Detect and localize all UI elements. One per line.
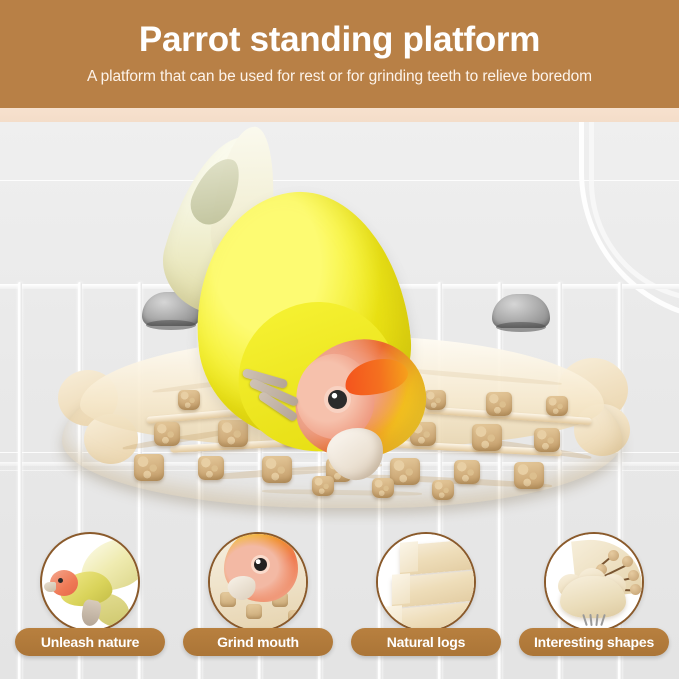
pin-prong <box>582 614 588 626</box>
pin-prong <box>595 614 598 626</box>
cork-peg <box>534 428 560 452</box>
feature-badge-interesting-shapes[interactable]: Interesting shapes <box>510 532 678 660</box>
cork-peg <box>546 396 568 416</box>
header-accent-strip <box>0 108 679 122</box>
cork-peg <box>608 550 619 561</box>
parrot <box>168 132 468 492</box>
cork-peg <box>246 604 262 619</box>
badge-pill[interactable]: Grind mouth <box>183 628 333 656</box>
pin-bracket <box>584 614 604 626</box>
header-banner: Parrot standing platform A platform that… <box>0 0 679 108</box>
cork-peg <box>514 462 544 489</box>
eye-shape <box>254 558 267 571</box>
badge-label: Unleash nature <box>41 634 139 650</box>
flying-lovebird-icon <box>40 532 140 632</box>
pin-prong <box>589 614 592 626</box>
badge-pill[interactable]: Natural logs <box>351 628 501 656</box>
page-title: Parrot standing platform <box>139 22 540 59</box>
badge-label: Natural logs <box>387 634 466 650</box>
badge-pill[interactable]: Interesting shapes <box>519 628 669 656</box>
cork-peg <box>628 570 639 581</box>
product-infographic: Parrot standing platform A platform that… <box>0 0 679 679</box>
parrot-eye <box>328 390 347 409</box>
eye-shape <box>58 578 63 583</box>
cork-peg <box>630 584 641 595</box>
badge-label: Interesting shapes <box>534 634 654 650</box>
beak-shape <box>44 582 56 592</box>
cork-peg <box>288 610 304 625</box>
feature-badge-natural-logs[interactable]: Natural logs <box>342 532 510 660</box>
cloud-shaped-board-icon <box>544 532 644 632</box>
cage-frame-arc <box>589 122 679 302</box>
feature-badge-unleash-nature[interactable]: Unleash nature <box>6 532 174 660</box>
cork-peg <box>486 392 512 416</box>
cork-peg <box>134 454 164 481</box>
log-end-face <box>400 541 418 573</box>
page-subtitle: A platform that can be used for rest or … <box>87 68 592 86</box>
leg-shape <box>80 599 102 628</box>
badge-label: Grind mouth <box>217 634 299 650</box>
parrot-grinding-beak-icon <box>208 532 308 632</box>
stacked-wooden-logs-icon <box>376 532 476 632</box>
cork-peg <box>622 556 633 567</box>
badge-pill[interactable]: Unleash nature <box>15 628 165 656</box>
cork-peg <box>472 424 502 451</box>
feature-badge-grind-mouth[interactable]: Grind mouth <box>174 532 342 660</box>
parrot-foot <box>242 368 320 416</box>
board-shape <box>560 576 626 618</box>
log-end-face <box>392 573 410 605</box>
feature-badge-row: Unleash nature Grind mouth <box>0 532 679 660</box>
